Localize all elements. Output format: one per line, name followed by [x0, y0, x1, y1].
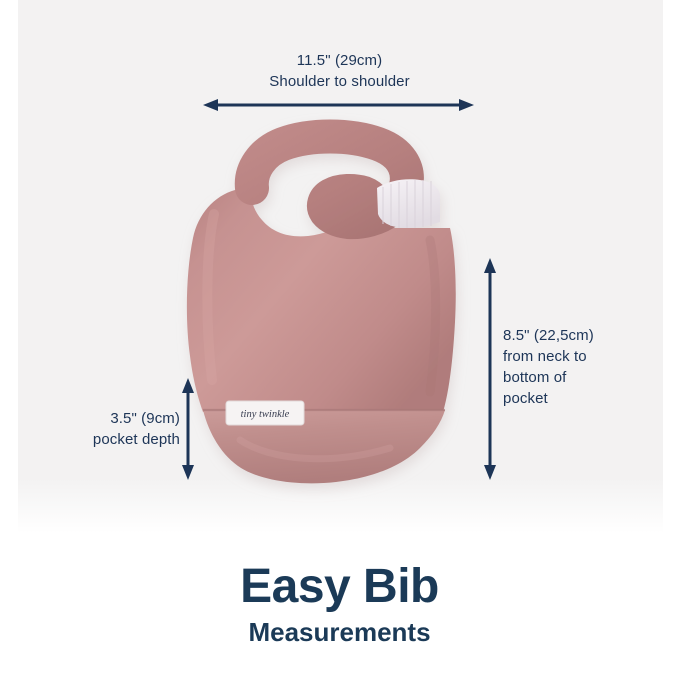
- page-subtitle: Measurements: [0, 616, 679, 648]
- width-arrow: [203, 99, 474, 111]
- height-arrow: [484, 258, 496, 480]
- width-measurement-label: 11.5" (29cm) Shoulder to shoulder: [0, 50, 679, 92]
- height-measurement-label: 8.5" (22,5cm) from neck to bottom of poc…: [503, 325, 653, 409]
- diagram-canvas: tiny twinkle 11.5" (29cm): [0, 0, 679, 679]
- title-block: Easy Bib Measurements: [0, 560, 679, 648]
- pocket-depth-arrow: [182, 378, 194, 480]
- page-title: Easy Bib: [0, 560, 679, 614]
- pocket-depth-label: 3.5" (9cm) pocket depth: [20, 408, 180, 450]
